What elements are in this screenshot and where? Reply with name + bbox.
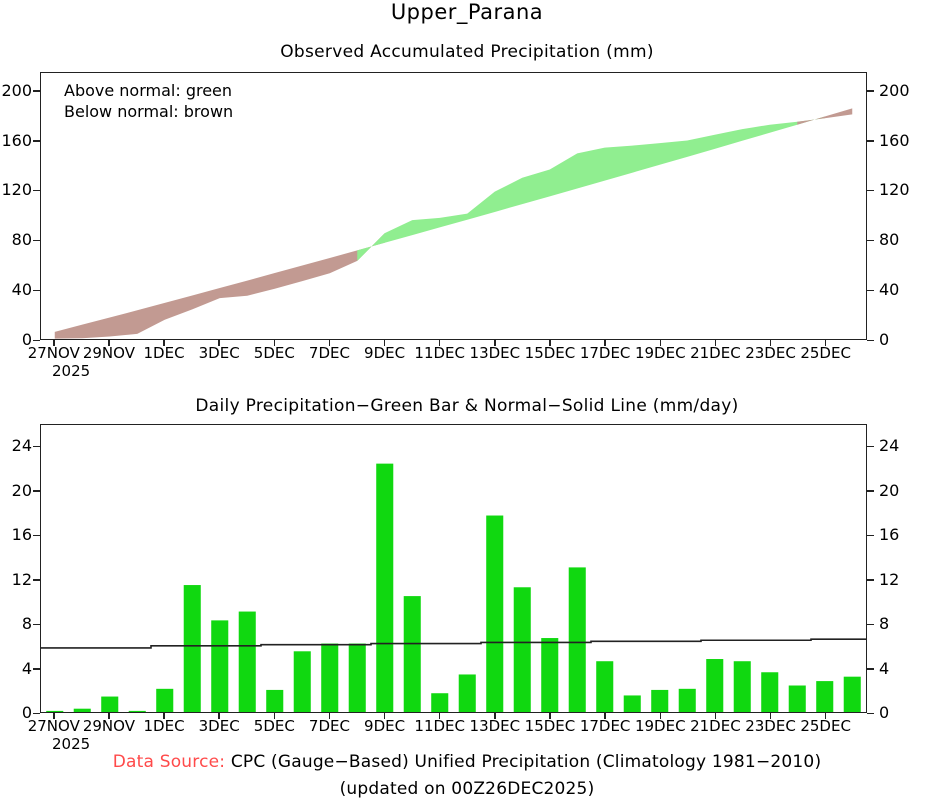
x-tick-mark [384, 713, 386, 719]
daily-precip-bar [844, 677, 861, 712]
y-tick-mark-left [33, 340, 40, 342]
y-tick-label-right: 16 [879, 527, 919, 543]
x-tick-mark [549, 713, 551, 719]
daily-precip-bar [156, 689, 173, 712]
x-tick-mark [108, 713, 110, 719]
y-tick-mark-right [867, 190, 874, 192]
daily-precip-bar [431, 693, 448, 712]
y-tick-label-right: 24 [879, 438, 919, 454]
y-tick-label-right: 4 [879, 661, 919, 677]
y-tick-mark-left [33, 446, 40, 448]
x-tick-mark [660, 340, 662, 346]
y-tick-mark-right [867, 624, 874, 626]
daily-precip-bar [596, 661, 613, 712]
daily-precip-bar [74, 709, 91, 712]
x-tick-mark [494, 713, 496, 719]
x-tick-mark [604, 713, 606, 719]
daily-precip-bar [541, 638, 558, 712]
daily-precip-bar [294, 651, 311, 712]
daily-precip-bar [211, 620, 228, 712]
x-tick-mark [329, 713, 331, 719]
y-tick-mark-right [867, 140, 874, 142]
daily-precip-bar [486, 516, 503, 712]
daily-precip-bar [239, 612, 256, 712]
y-tick-label-right: 0 [879, 705, 919, 721]
y-tick-mark-left [33, 579, 40, 581]
daily-precip-bar [404, 596, 421, 712]
y-tick-label-left: 12 [0, 572, 32, 588]
x-tick-mark [274, 713, 276, 719]
x-tick-mark [549, 340, 551, 346]
y-tick-mark-left [33, 240, 40, 242]
x-tick-mark [274, 340, 276, 346]
x-tick-mark [770, 340, 772, 346]
daily-precip-bar [816, 681, 833, 712]
bottom-panel-title: Daily Precipitation−Green Bar & Normal−S… [0, 396, 934, 416]
y-tick-mark-left [33, 535, 40, 537]
y-tick-mark-left [33, 190, 40, 192]
x-tick-mark [825, 713, 827, 719]
y-tick-label-left: 16 [0, 527, 32, 543]
x-tick-mark [329, 340, 331, 346]
y-tick-mark-right [867, 240, 874, 242]
daily-bars-svg [41, 425, 866, 712]
top-panel-title: Observed Accumulated Precipitation (mm) [0, 42, 934, 62]
x-tick-mark [715, 340, 717, 346]
daily-precip-bar [266, 690, 283, 712]
daily-precip-bar [321, 644, 338, 712]
y-tick-label-left: 40 [0, 282, 32, 298]
y-tick-mark-right [867, 535, 874, 537]
x-tick-mark [53, 340, 55, 346]
daily-precip-bar [624, 695, 641, 712]
daily-precipitation-plot [40, 424, 867, 713]
y-tick-label-left: 200 [0, 83, 32, 99]
y-tick-mark-right [867, 446, 874, 448]
daily-precip-bar [101, 697, 118, 712]
daily-precip-bar [514, 587, 531, 712]
data-source-line: Data Source: CPC (Gauge−Based) Unified P… [0, 752, 934, 772]
data-source-text: CPC (Gauge−Based) Unified Precipitation … [231, 752, 821, 772]
above-normal-area [357, 117, 825, 261]
daily-precip-bar [184, 585, 201, 712]
x-tick-mark [53, 713, 55, 719]
daily-precip-bar [349, 644, 366, 712]
y-tick-label-right: 120 [879, 182, 919, 198]
x-tick-mark [163, 713, 165, 719]
x-tick-mark [439, 340, 441, 346]
daily-precip-bar [569, 567, 586, 712]
y-tick-label-left: 120 [0, 182, 32, 198]
y-tick-label-right: 8 [879, 616, 919, 632]
legend-above-below: Above normal: greenBelow normal: brown [64, 80, 233, 122]
x-axis-year-label: 2025 [52, 737, 90, 752]
y-tick-mark-left [33, 290, 40, 292]
y-tick-mark-left [33, 624, 40, 626]
y-tick-label-right: 20 [879, 483, 919, 499]
x-tick-mark [604, 340, 606, 346]
x-tick-mark [108, 340, 110, 346]
daily-precip-bar [651, 690, 668, 712]
y-tick-mark-right [867, 340, 874, 342]
y-tick-label-left: 8 [0, 616, 32, 632]
y-tick-label-left: 80 [0, 232, 32, 248]
x-tick-mark [218, 340, 220, 346]
x-tick-mark [439, 713, 441, 719]
y-tick-mark-left [33, 140, 40, 142]
x-tick-mark [163, 340, 165, 346]
daily-precip-bar [761, 672, 778, 712]
y-tick-mark-left [33, 713, 40, 715]
y-tick-label-right: 12 [879, 572, 919, 588]
daily-precip-bar [789, 686, 806, 712]
y-tick-mark-right [867, 713, 874, 715]
data-source-label: Data Source: [113, 752, 226, 772]
y-tick-label-right: 0 [879, 332, 919, 348]
y-tick-label-left: 24 [0, 438, 32, 454]
y-tick-mark-left [33, 90, 40, 92]
daily-precip-bar [46, 711, 63, 712]
x-tick-label: 25DEC [790, 719, 862, 734]
y-tick-label-right: 200 [879, 83, 919, 99]
x-tick-mark [384, 340, 386, 346]
daily-precip-bar [129, 711, 146, 712]
daily-precip-bar [706, 659, 723, 712]
daily-precip-bar [376, 464, 393, 712]
chart-page: Upper_Parana Observed Accumulated Precip… [0, 0, 934, 809]
y-tick-label-left: 20 [0, 483, 32, 499]
daily-precip-bar [734, 661, 751, 712]
below-normal-area [55, 233, 385, 339]
x-tick-mark [770, 713, 772, 719]
y-tick-mark-right [867, 290, 874, 292]
y-tick-mark-right [867, 579, 874, 581]
x-tick-label: 25DEC [790, 346, 862, 361]
y-tick-label-right: 160 [879, 133, 919, 149]
y-tick-label-right: 40 [879, 282, 919, 298]
legend-line-0: Above normal: green [64, 80, 233, 101]
updated-line: (updated on 00Z26DEC2025) [0, 779, 934, 799]
y-tick-label-left: 160 [0, 133, 32, 149]
y-tick-mark-left [33, 668, 40, 670]
daily-precip-bar [459, 674, 476, 712]
page-title: Upper_Parana [0, 0, 934, 24]
x-tick-mark [494, 340, 496, 346]
x-tick-mark [715, 713, 717, 719]
legend-line-1: Below normal: brown [64, 101, 233, 122]
daily-precip-bar [679, 689, 696, 712]
y-tick-label-left: 4 [0, 661, 32, 677]
y-tick-mark-right [867, 668, 874, 670]
y-tick-mark-right [867, 90, 874, 92]
y-tick-label-right: 80 [879, 232, 919, 248]
x-tick-mark [218, 713, 220, 719]
y-tick-mark-left [33, 490, 40, 492]
y-tick-mark-right [867, 490, 874, 492]
x-axis-year-label: 2025 [52, 364, 90, 379]
x-tick-mark [660, 713, 662, 719]
x-tick-mark [825, 340, 827, 346]
normal-solid-line [41, 639, 866, 648]
